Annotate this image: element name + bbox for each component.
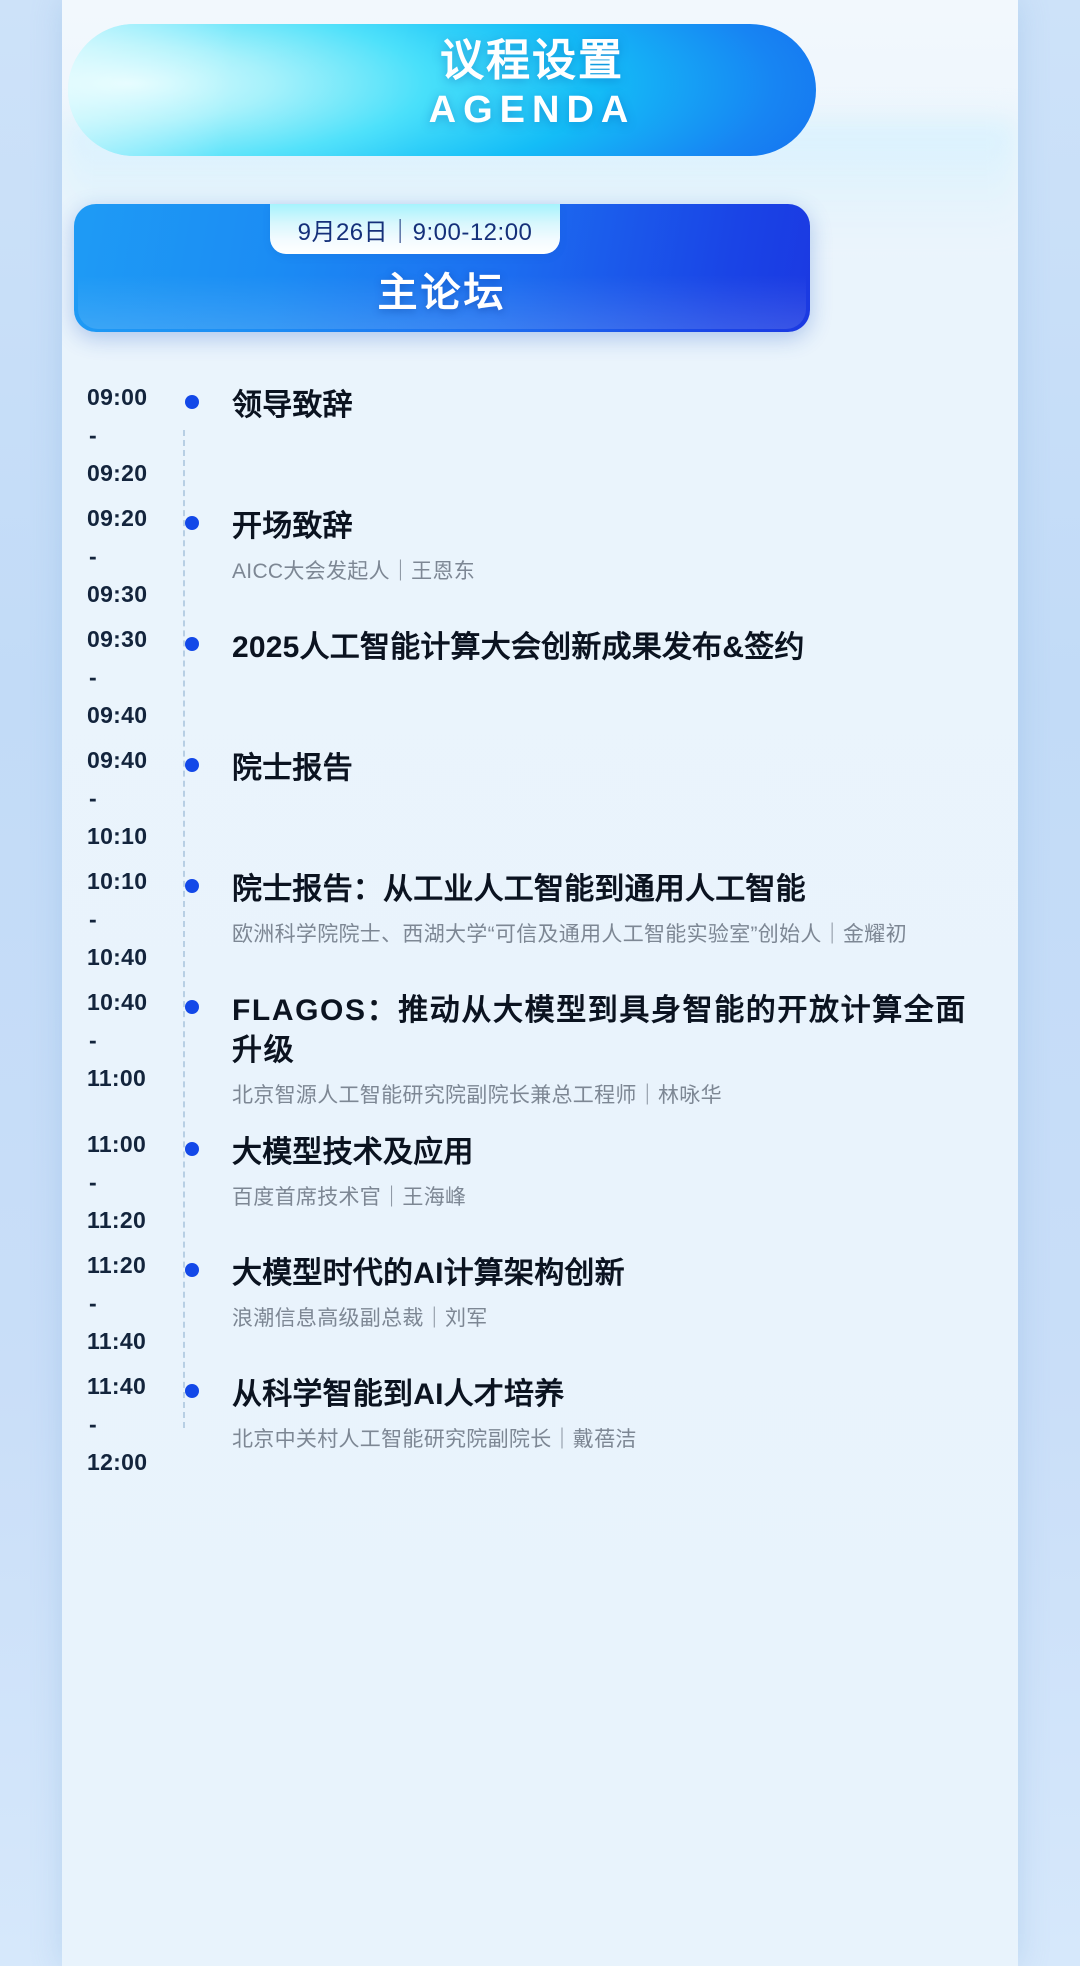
agenda-item-title: 大模型时代的AI计算架构创新 <box>232 1254 988 1294</box>
agenda-item-time-dash: - <box>89 1292 182 1315</box>
agenda-item-marker <box>182 870 212 969</box>
agenda-item-content: 领导致辞 <box>212 386 994 485</box>
agenda-item-time-end: 11:00 <box>87 1067 182 1090</box>
agenda-item-time-end: 09:20 <box>87 462 182 485</box>
agenda-item-content: 大模型技术及应用百度首席技术官｜王海峰 <box>212 1133 994 1232</box>
agenda-item-time-end: 10:40 <box>87 946 182 969</box>
agenda-item[interactable]: 11:40-12:00从科学智能到AI人才培养北京中关村人工智能研究院副院长｜戴… <box>84 1375 994 1474</box>
agenda-item-title: 大模型技术及应用 <box>232 1133 988 1173</box>
agenda-item-marker <box>182 1133 212 1232</box>
agenda-item-title: 开场致辞 <box>232 507 988 547</box>
timeline-dot-icon <box>185 758 199 772</box>
agenda-list: 09:00-09:20领导致辞09:20-09:30开场致辞AICC大会发起人｜… <box>62 386 1018 1496</box>
agenda-item-time: 10:10-10:40 <box>84 870 182 969</box>
agenda-item-title: 2025人工智能计算大会创新成果发布&签约 <box>232 628 988 668</box>
agenda-item-time-start: 10:10 <box>87 870 182 893</box>
agenda-item-time: 11:00-11:20 <box>84 1133 182 1232</box>
agenda-item-title: FLAGOS：推动从大模型到具身智能的开放计算全面升级 <box>232 991 988 1071</box>
timeline-dot-icon <box>185 516 199 530</box>
agenda-item-time-dash: - <box>89 787 182 810</box>
agenda-item-time: 09:00-09:20 <box>84 386 182 485</box>
agenda-item-time-dash: - <box>89 1171 182 1194</box>
agenda-item-time: 10:40-11:00 <box>84 991 182 1111</box>
agenda-item-time: 09:30-09:40 <box>84 628 182 727</box>
session-date-chip: 9月26日｜9:00-12:00 <box>270 204 560 254</box>
agenda-item-title: 领导致辞 <box>232 386 988 426</box>
timeline-dot-icon <box>185 1142 199 1156</box>
agenda-item-time-start: 10:40 <box>87 991 182 1014</box>
agenda-item-content: 从科学智能到AI人才培养北京中关村人工智能研究院副院长｜戴蓓洁 <box>212 1375 994 1474</box>
agenda-item-marker <box>182 507 212 606</box>
agenda-item-marker <box>182 386 212 485</box>
agenda-poster-card: 议程设置 AGENDA 9月26日｜9:00-12:00 主论坛 09:00-0… <box>62 0 1018 1966</box>
agenda-item[interactable]: 09:20-09:30开场致辞AICC大会发起人｜王恩东 <box>84 507 994 606</box>
agenda-item-title: 院士报告：从工业人工智能到通用人工智能 <box>232 870 988 910</box>
timeline-dot-icon <box>185 1000 199 1014</box>
agenda-item-time-dash: - <box>89 1413 182 1436</box>
agenda-item[interactable]: 11:00-11:20大模型技术及应用百度首席技术官｜王海峰 <box>84 1133 994 1232</box>
agenda-item-content: 院士报告 <box>212 749 994 848</box>
agenda-item-time-end: 11:40 <box>87 1330 182 1353</box>
agenda-item-speaker: 北京中关村人工智能研究院副院长｜戴蓓洁 <box>232 1425 988 1455</box>
agenda-item-time-end: 12:00 <box>87 1451 182 1474</box>
agenda-item-speaker: 欧洲科学院院士、西湖大学“可信及通用人工智能实验室”创始人｜金耀初 <box>232 920 988 950</box>
header-title-en: AGENDA <box>262 87 802 135</box>
timeline-dot-icon <box>185 1384 199 1398</box>
agenda-item-time-start: 11:40 <box>87 1375 182 1398</box>
agenda-item-content: 大模型时代的AI计算架构创新浪潮信息高级副总裁｜刘军 <box>212 1254 994 1353</box>
agenda-item[interactable]: 09:40-10:10院士报告 <box>84 749 994 848</box>
agenda-item-time: 11:40-12:00 <box>84 1375 182 1474</box>
agenda-item[interactable]: 10:40-11:00FLAGOS：推动从大模型到具身智能的开放计算全面升级北京… <box>84 991 994 1111</box>
agenda-item-time-start: 09:00 <box>87 386 182 409</box>
session-header: 9月26日｜9:00-12:00 主论坛 <box>74 204 810 332</box>
agenda-item-marker <box>182 1375 212 1474</box>
agenda-item-speaker: 浪潮信息高级副总裁｜刘军 <box>232 1304 988 1334</box>
session-date-time: 9月26日｜9:00-12:00 <box>298 212 533 247</box>
agenda-item-time: 09:20-09:30 <box>84 507 182 606</box>
agenda-item-time-dash: - <box>89 545 182 568</box>
agenda-item-time-end: 11:20 <box>87 1209 182 1232</box>
agenda-item-time: 09:40-10:10 <box>84 749 182 848</box>
agenda-item-time-start: 09:40 <box>87 749 182 772</box>
agenda-item[interactable]: 09:30-09:402025人工智能计算大会创新成果发布&签约 <box>84 628 994 727</box>
agenda-item-time-start: 09:30 <box>87 628 182 651</box>
agenda-item-time-end: 10:10 <box>87 825 182 848</box>
agenda-item-content: 院士报告：从工业人工智能到通用人工智能欧洲科学院院士、西湖大学“可信及通用人工智… <box>212 870 994 969</box>
agenda-item-time-start: 11:00 <box>87 1133 182 1156</box>
timeline-dot-icon <box>185 879 199 893</box>
agenda-item-marker <box>182 628 212 727</box>
agenda-item-title: 从科学智能到AI人才培养 <box>232 1375 988 1415</box>
agenda-item-title: 院士报告 <box>232 749 988 789</box>
agenda-item-marker <box>182 749 212 848</box>
agenda-item-time-dash: - <box>89 908 182 931</box>
agenda-item-speaker: 百度首席技术官｜王海峰 <box>232 1183 988 1213</box>
timeline-dot-icon <box>185 1263 199 1277</box>
agenda-item-time-dash: - <box>89 666 182 689</box>
agenda-item-time-end: 09:40 <box>87 704 182 727</box>
agenda-item-content: FLAGOS：推动从大模型到具身智能的开放计算全面升级北京智源人工智能研究院副院… <box>212 991 994 1111</box>
agenda-item[interactable]: 11:20-11:40大模型时代的AI计算架构创新浪潮信息高级副总裁｜刘军 <box>84 1254 994 1353</box>
agenda-item-time-start: 09:20 <box>87 507 182 530</box>
agenda-item-speaker: 北京智源人工智能研究院副院长兼总工程师｜林咏华 <box>232 1081 988 1111</box>
session-forum-name: 主论坛 <box>74 260 810 318</box>
agenda-item-speaker: AICC大会发起人｜王恩东 <box>232 557 988 587</box>
agenda-item-time-end: 09:30 <box>87 583 182 606</box>
timeline-dot-icon <box>185 637 199 651</box>
agenda-item-marker <box>182 991 212 1111</box>
agenda-item-content: 开场致辞AICC大会发起人｜王恩东 <box>212 507 994 606</box>
agenda-item-content: 2025人工智能计算大会创新成果发布&签约 <box>212 628 994 727</box>
agenda-item-time: 11:20-11:40 <box>84 1254 182 1353</box>
agenda-item[interactable]: 10:10-10:40院士报告：从工业人工智能到通用人工智能欧洲科学院院士、西湖… <box>84 870 994 969</box>
agenda-item-time-start: 11:20 <box>87 1254 182 1277</box>
agenda-item-marker <box>182 1254 212 1353</box>
header-title-block: 议程设置 AGENDA <box>262 36 802 135</box>
agenda-item-time-dash: - <box>89 1029 182 1052</box>
timeline-dot-icon <box>185 395 199 409</box>
agenda-item[interactable]: 09:00-09:20领导致辞 <box>84 386 994 485</box>
header-title-cn: 议程设置 <box>262 36 802 85</box>
agenda-item-time-dash: - <box>89 424 182 447</box>
